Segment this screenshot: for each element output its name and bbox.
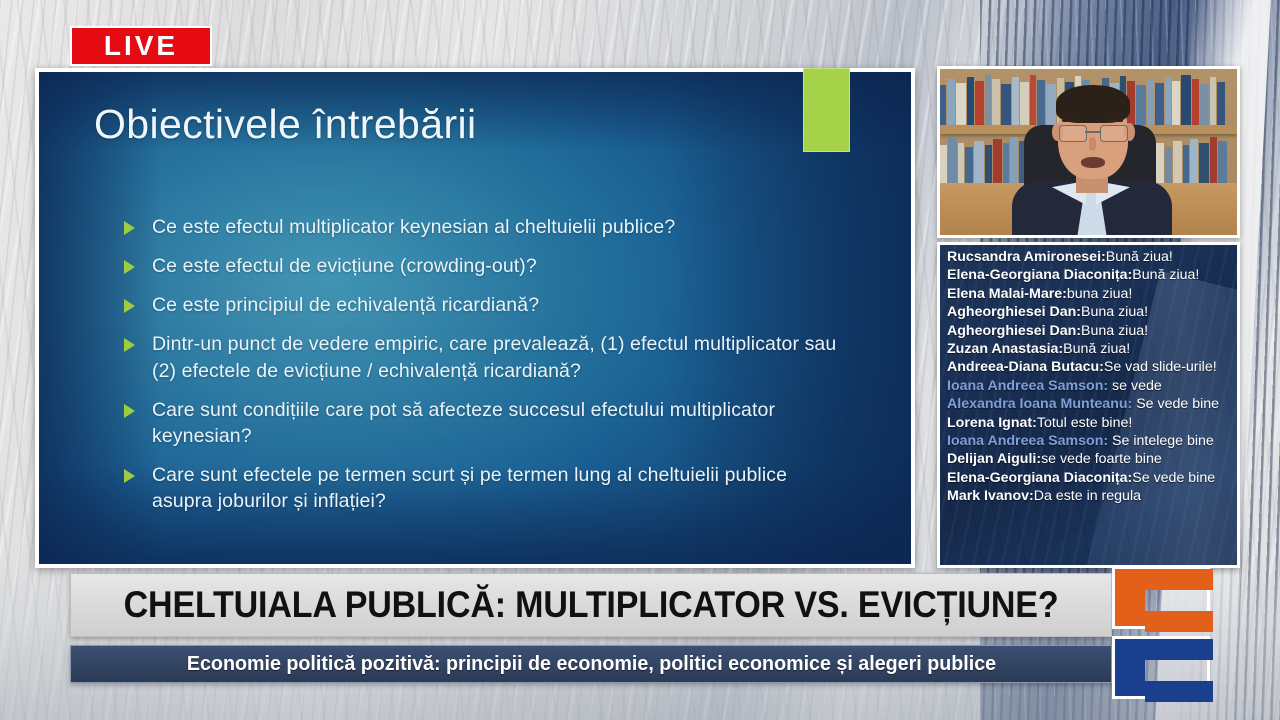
chat-message: Lorena Ignat:Totul este bine!: [947, 414, 1231, 432]
chat-message: Mark Ivanov:Da este in regula: [947, 487, 1231, 505]
bullet-triangle-icon: [124, 299, 135, 313]
cam-book-spine: [956, 83, 966, 125]
bullet-triangle-icon: [124, 221, 135, 235]
cam-book-spine: [1147, 79, 1154, 125]
bullet-triangle-icon: [124, 469, 135, 483]
slide-bullet-text: Care sunt condițiile care pot să afectez…: [152, 397, 844, 449]
live-badge: LIVE: [70, 26, 212, 66]
cam-book-spine: [948, 138, 957, 187]
chat-message: Agheorghiesei Dan:Buna ziua!: [947, 322, 1231, 340]
cam-book-spine: [1046, 84, 1056, 125]
cam-book-spine: [985, 145, 992, 187]
cam-book-spine: [1218, 141, 1227, 187]
slide-bullet-item: Care sunt efectele pe termen scurt și pe…: [124, 462, 844, 514]
logo-e-top-arm-upper: [1145, 569, 1213, 590]
cam-book-spine: [1020, 82, 1029, 125]
cam-book-spine: [967, 77, 974, 125]
cam-book-spine: [940, 85, 946, 125]
chat-message-text: Buna ziua!: [1081, 323, 1148, 339]
cam-book-spine: [1012, 77, 1019, 125]
logo-e-top-stem: [1115, 569, 1145, 626]
chat-message-author: Elena-Georgiana Diaconița:: [947, 470, 1132, 486]
chat-message-author: Delijan Aiguli:: [947, 451, 1041, 467]
chat-message-author: Ioana Andreea Samson:: [947, 433, 1108, 449]
logo-e-bottom-stem: [1115, 639, 1145, 696]
bullet-triangle-icon: [124, 338, 135, 352]
chat-message-author: Ioana Andreea Samson:: [947, 378, 1108, 394]
cam-book-spine: [1003, 143, 1009, 187]
cam-book-spine: [985, 75, 991, 125]
cam-book-spine: [958, 143, 964, 187]
cam-book-spine: [1165, 147, 1172, 187]
slide-bullet-item: Ce este principiul de echivalență ricard…: [124, 292, 844, 318]
cam-book-spine: [940, 145, 947, 187]
logo-e-top: [1112, 566, 1210, 629]
cam-book-spine: [1217, 82, 1225, 125]
slide-bullet-item: Care sunt condițiile care pot să afectez…: [124, 397, 844, 449]
chat-message-text: Buna ziua!: [1081, 304, 1148, 320]
chat-message-author: Agheorghiesei Dan:: [947, 304, 1081, 320]
cam-book-spine: [1001, 84, 1011, 125]
slide-bullet-item: Ce este efectul multiplicator keynesian …: [124, 214, 844, 240]
chat-message-list: Rucsandra Amironesei:Bună ziua!Elena-Geo…: [940, 245, 1237, 505]
chat-message-text: Se intelege bine: [1108, 433, 1214, 449]
cam-book-spine: [992, 79, 1000, 125]
logo-e-top-arm-lower: [1145, 611, 1213, 632]
station-logo: [1112, 566, 1210, 702]
cam-book-spine: [1210, 77, 1216, 125]
lower-third-subline: Economie politică pozitivă: principii de…: [70, 645, 1112, 683]
logo-e-bottom: [1112, 636, 1210, 699]
chat-message-text: Se vad slide-urile!: [1104, 359, 1217, 375]
cam-book-spine: [1210, 137, 1217, 187]
cam-book-spine: [1199, 143, 1209, 187]
cam-book-spine: [1030, 75, 1036, 125]
cam-book-spine: [1172, 81, 1180, 125]
slide-green-accent-rectangle: [803, 68, 850, 152]
cam-book-spine: [993, 139, 1002, 187]
slide-title: Obiectivele întrebării: [94, 104, 477, 145]
cam-book-spine: [1136, 85, 1146, 125]
slide-bullet-text: Ce este efectul multiplicator keynesian …: [152, 214, 675, 240]
chat-message-text: buna ziua!: [1067, 286, 1132, 302]
cam-book-spine: [1155, 83, 1164, 125]
slide-bullet-list: Ce este efectul multiplicator keynesian …: [124, 214, 844, 527]
chat-message-author: Elena Malai-Mare:: [947, 286, 1067, 302]
cam-presenter-hair: [1056, 85, 1130, 123]
cam-book-spine: [1200, 84, 1209, 125]
cam-presenter-glasses-bridge: [1085, 131, 1100, 133]
cam-book-spine: [947, 79, 955, 125]
live-badge-label: LIVE: [104, 32, 178, 60]
cam-book-spine: [1190, 139, 1198, 187]
cam-presenter-eyebrow-right: [1103, 119, 1123, 122]
cam-presenter-glasses-right: [1100, 125, 1128, 142]
slide-bullet-item: Dintr-un punct de vedere empiric, care p…: [124, 331, 844, 383]
chat-message-text: se vede foarte bine: [1041, 451, 1162, 467]
chat-message-text: se vede: [1108, 378, 1162, 394]
chat-message-text: Se vede bine: [1132, 396, 1219, 412]
chat-message: Ioana Andreea Samson: se vede: [947, 377, 1231, 395]
slide-bullet-text: Ce este principiul de echivalență ricard…: [152, 292, 539, 318]
chat-message-author: Rucsandra Amironesei:: [947, 249, 1106, 265]
bullet-triangle-icon: [124, 404, 135, 418]
cam-book-spine: [975, 81, 984, 125]
chat-message: Agheorghiesei Dan:Buna ziua!: [947, 303, 1231, 321]
cam-book-spine: [1192, 79, 1199, 125]
chat-message-text: Da este in regula: [1034, 488, 1141, 504]
presenter-video-feed[interactable]: [937, 66, 1240, 238]
chat-message: Zuzan Anastasia:Bună ziua!: [947, 340, 1231, 358]
cam-book-spine: [974, 141, 984, 187]
cam-presenter-eyebrow-left: [1062, 119, 1082, 122]
chat-message-text: Se vede bine: [1132, 470, 1215, 486]
chat-message-author: Lorena Ignat:: [947, 415, 1037, 431]
slide-bullet-text: Ce este efectul de evicțiune (crowding-o…: [152, 253, 537, 279]
lower-third-headline: CHELTUIALA PUBLICĂ: MULTIPLICATOR VS. EV…: [70, 573, 1112, 637]
chat-message: Elena-Georgiana Diaconița:Se vede bine: [947, 469, 1231, 487]
chat-message: Rucsandra Amironesei:Bună ziua!: [947, 248, 1231, 266]
headline-text: CHELTUIALA PUBLICĂ: MULTIPLICATOR VS. EV…: [124, 584, 1059, 626]
chat-message: Alexandra Ioana Munteanu: Se vede bine: [947, 395, 1231, 413]
chat-message: Andreea-Diana Butacu:Se vad slide-urile!: [947, 358, 1231, 376]
live-chat-panel[interactable]: Rucsandra Amironesei:Bună ziua!Elena-Geo…: [937, 242, 1240, 568]
chat-message-author: Elena-Georgiana Diaconița:: [947, 267, 1132, 283]
chat-message-text: Bună ziua!: [1132, 267, 1199, 283]
slide-bullet-text: Care sunt efectele pe termen scurt și pe…: [152, 462, 844, 514]
cam-book-spine: [1165, 77, 1171, 125]
presentation-slide: Obiectivele întrebării Ce este efectul m…: [35, 68, 915, 568]
logo-e-bottom-arm-lower: [1145, 681, 1213, 702]
bullet-triangle-icon: [124, 260, 135, 274]
cam-presenter-mouth: [1081, 157, 1105, 168]
chat-message: Ioana Andreea Samson: Se intelege bine: [947, 432, 1231, 450]
chat-message-author: Andreea-Diana Butacu:: [947, 359, 1104, 375]
logo-e-bottom-arm-upper: [1145, 639, 1213, 660]
chat-message-author: Alexandra Ioana Munteanu:: [947, 396, 1132, 412]
chat-message-author: Mark Ivanov:: [947, 488, 1034, 504]
subline-text: Economie politică pozitivă: principii de…: [186, 652, 995, 676]
cam-book-spine: [1183, 145, 1189, 187]
chat-message: Elena Malai-Mare:buna ziua!: [947, 285, 1231, 303]
chat-message: Delijan Aiguli:se vede foarte bine: [947, 450, 1231, 468]
slide-bullet-item: Ce este efectul de evicțiune (crowding-o…: [124, 253, 844, 279]
cam-presenter-nose: [1089, 137, 1096, 151]
chat-message-author: Agheorghiesei Dan:: [947, 323, 1081, 339]
chat-message-text: Bună ziua!: [1063, 341, 1130, 357]
slide-bullet-text: Dintr-un punct de vedere empiric, care p…: [152, 331, 844, 383]
chat-message-author: Zuzan Anastasia:: [947, 341, 1063, 357]
cam-book-spine: [1173, 141, 1182, 187]
cam-book-spine: [1181, 75, 1191, 125]
chat-message-text: Bună ziua!: [1106, 249, 1173, 265]
chat-message-text: Totul este bine!: [1037, 415, 1132, 431]
cam-presenter-glasses-left: [1059, 125, 1087, 142]
cam-book-spine: [1037, 80, 1045, 125]
cam-book-spine: [1010, 137, 1018, 187]
chat-message: Elena-Georgiana Diaconița:Bună ziua!: [947, 266, 1231, 284]
cam-book-spine: [965, 147, 973, 187]
